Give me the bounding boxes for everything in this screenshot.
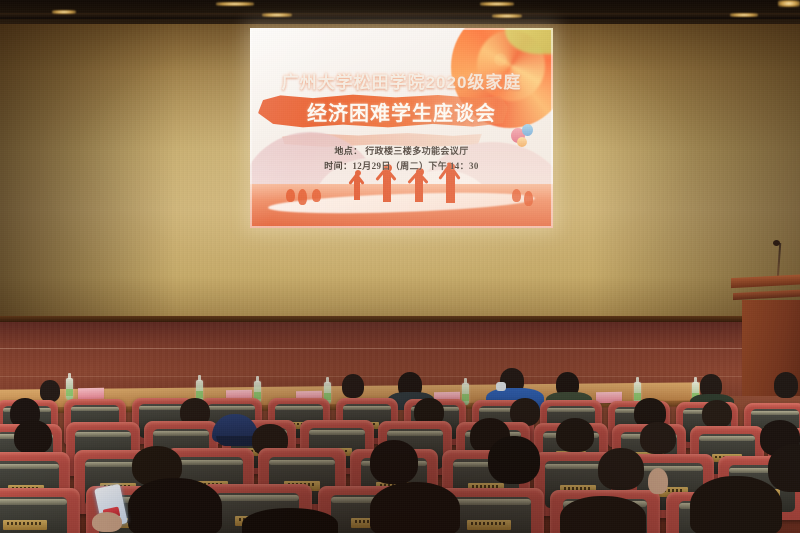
tree-icon	[524, 191, 533, 206]
auditorium-scene: 广州大学松田学院2020级家庭 经济困难学生座谈会 地点： 行政楼三楼多功能会议…	[0, 0, 800, 533]
projection-screen: 广州大学松田学院2020级家庭 经济困难学生座谈会 地点： 行政楼三楼多功能会议…	[250, 28, 553, 228]
attendee-head	[598, 448, 644, 490]
slide-location-text: 地点： 行政楼三楼多功能会议厅	[250, 144, 553, 157]
attendee-head	[640, 422, 676, 454]
tree-icon	[298, 189, 307, 205]
attendee-head	[488, 436, 540, 484]
attendee-head	[556, 418, 594, 452]
water-bottle	[66, 378, 73, 400]
attendee-head	[40, 380, 60, 402]
slide-background: 广州大学松田学院2020级家庭 经济困难学生座谈会 地点： 行政楼三楼多功能会议…	[250, 28, 553, 228]
ceiling-light	[216, 2, 254, 6]
microphone-icon	[773, 240, 780, 246]
hand	[648, 468, 668, 494]
ceiling-light	[52, 10, 76, 14]
ceiling-light	[730, 13, 758, 17]
attendee-head-foreground	[128, 478, 222, 533]
attendee-head-foreground	[560, 496, 646, 533]
auditorium-seat[interactable]	[0, 488, 80, 533]
attendee-head	[14, 420, 52, 454]
ceiling-light	[480, 2, 514, 6]
attendee-head	[342, 374, 364, 398]
hand	[92, 512, 122, 532]
tree-icon	[286, 189, 295, 202]
slide-time-text: 时间：12月29日（周二）下午 14：30	[250, 159, 553, 172]
ceiling-light	[778, 0, 800, 7]
attendee-head-foreground	[690, 476, 782, 533]
tree-icon	[312, 189, 321, 202]
attendee-head	[370, 440, 418, 484]
attendee-head-foreground	[242, 508, 338, 533]
slide-title-line-2: 经济困难学生座谈会	[250, 97, 553, 126]
slide-title-line-1: 广州大学松田学院2020级家庭	[250, 68, 553, 93]
attendee-head-foreground	[370, 482, 460, 533]
stage-wall-seam	[0, 348, 800, 349]
name-card	[78, 388, 104, 399]
face-mask-icon	[496, 382, 506, 391]
attendee-head	[774, 372, 798, 398]
tree-icon	[512, 189, 521, 202]
attendee-head	[702, 400, 732, 428]
